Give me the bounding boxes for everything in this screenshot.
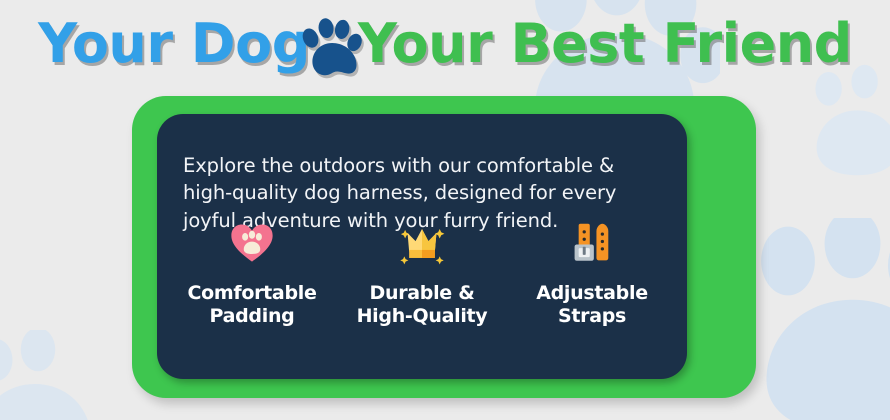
feature-label: Adjustable Straps: [536, 282, 648, 328]
feature-item-adjustable-straps: Adjustable Straps: [512, 218, 672, 328]
feature-list: Comfortable Padding: [167, 218, 677, 328]
adjustable-strap-icon: [564, 218, 620, 268]
feature-card-inner: Explore the outdoors with our comfortabl…: [157, 114, 687, 379]
headline: Your Dog Your Best Friend: [0, 6, 890, 82]
paw-print-icon: [300, 17, 362, 79]
paw-print-watermark-icon: [745, 218, 890, 420]
feature-item-durable-high-quality: Durable & High-Quality: [342, 218, 502, 328]
promo-banner: Your Dog Your Best Friend Explore the ou…: [0, 0, 890, 420]
paw-print-watermark-icon: [0, 330, 110, 420]
headline-part-one: Your Dog: [38, 17, 310, 71]
feature-label: Comfortable Padding: [187, 282, 316, 328]
feature-item-comfortable-padding: Comfortable Padding: [172, 218, 332, 328]
headline-part-two: Your Best Friend: [358, 17, 852, 71]
feature-card-outer: Explore the outdoors with our comfortabl…: [132, 96, 756, 398]
feature-label: Durable & High-Quality: [357, 282, 488, 328]
crown-sparkle-icon: [394, 218, 450, 268]
heart-paw-icon: [224, 218, 280, 268]
